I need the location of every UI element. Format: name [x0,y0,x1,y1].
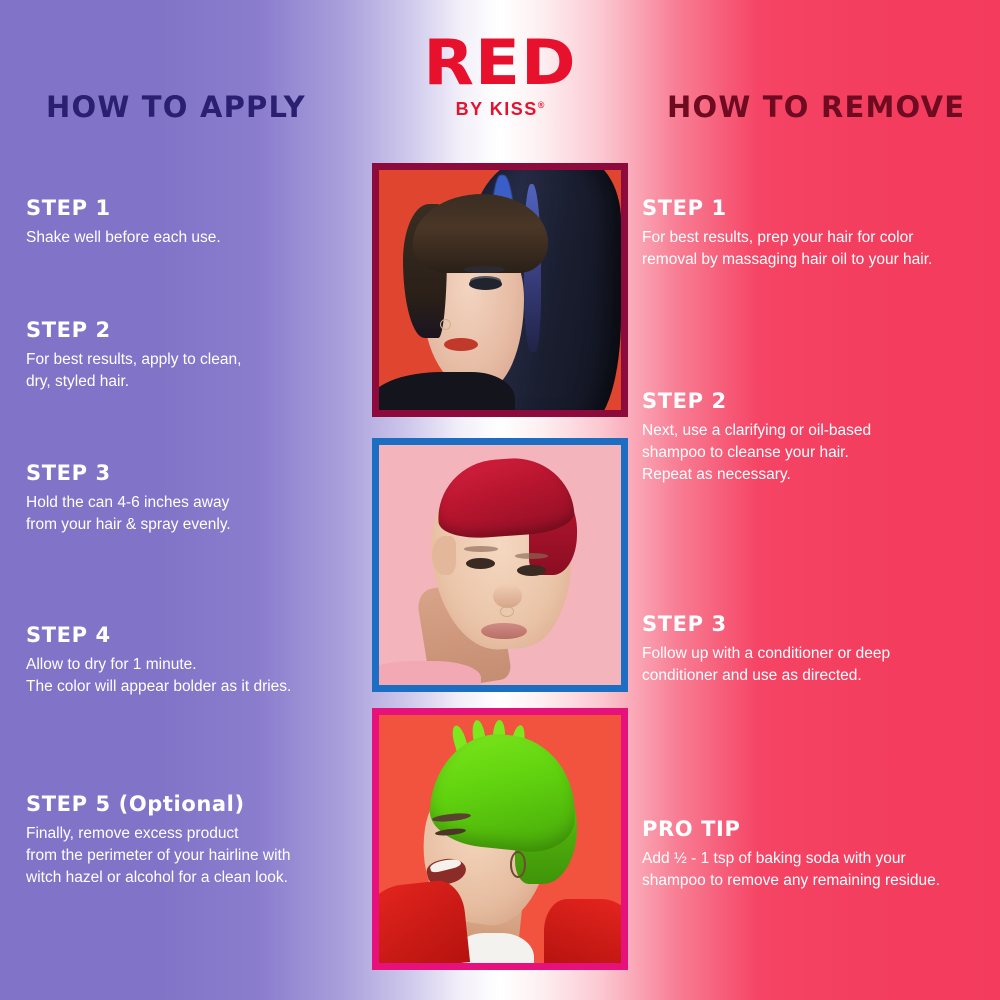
apply-step-3-body: Hold the can 4-6 inches away from your h… [26,492,231,536]
photo-blue-black-hair [372,163,628,417]
photo2-ear [432,536,456,574]
photo3-jacket-right [544,899,621,963]
apply-step-4-body: Allow to dry for 1 minute. The color wil… [26,654,291,698]
photo1-eye [469,278,503,290]
registered-trademark-icon: ® [538,100,545,110]
photo-red-buzzcut [372,438,628,692]
apply-step-1-body: Shake well before each use. [26,227,221,249]
apply-step-4: STEP 4 Allow to dry for 1 minute. The co… [26,623,291,698]
remove-pro-tip: PRO TIP Add ½ - 1 tsp of baking soda wit… [642,817,940,892]
remove-pro-tip-body: Add ½ - 1 tsp of baking soda with your s… [642,848,940,892]
remove-step-2-title: STEP 2 [642,389,871,413]
photo2-eyebrow-left [464,546,498,552]
remove-step-1-body: For best results, prep your hair for col… [642,227,932,271]
photo2-lips [481,623,527,640]
remove-step-1-title: STEP 1 [642,196,932,220]
remove-step-2: STEP 2 Next, use a clarifying or oil-bas… [642,389,871,486]
apply-step-2-title: STEP 2 [26,318,241,342]
apply-step-5-body: Finally, remove excess product from the … [26,823,290,889]
remove-pro-tip-title: PRO TIP [642,817,940,841]
logo-wordmark: RED [0,34,1000,93]
remove-step-2-body: Next, use a clarifying or oil-based sham… [642,420,871,486]
photo-blue-black-hair-image [379,170,621,410]
logo-tagline: BY KISS® [456,99,545,120]
apply-step-1: STEP 1 Shake well before each use. [26,196,221,249]
remove-step-3-title: STEP 3 [642,612,890,636]
logo-tagline-text: BY KISS [456,99,538,119]
apply-step-2-body: For best results, apply to clean, dry, s… [26,349,241,393]
apply-step-3: STEP 3 Hold the can 4-6 inches away from… [26,461,231,536]
photo2-nose [493,584,522,608]
photo3-jacket-left [379,878,470,963]
photo1-shoulder [379,372,515,410]
photo-red-buzzcut-image [379,445,621,685]
apply-step-5: STEP 5 (Optional) Finally, remove excess… [26,792,290,889]
remove-step-1: STEP 1 For best results, prep your hair … [642,196,932,271]
photo2-shirt [379,661,481,685]
photo-green-hair-image [379,715,621,963]
photo2-eye-left [466,558,495,569]
apply-step-3-title: STEP 3 [26,461,231,485]
apply-step-4-title: STEP 4 [26,623,291,647]
photo2-eyebrow-right [515,553,549,559]
apply-step-2: STEP 2 For best results, apply to clean,… [26,318,241,393]
photo-green-hair [372,708,628,970]
apply-step-5-title: STEP 5 (Optional) [26,792,290,816]
photo2-eye-right [517,565,546,576]
brand-logo: RED BY KISS® [0,34,1000,120]
remove-step-3: STEP 3 Follow up with a conditioner or d… [642,612,890,687]
apply-step-1-title: STEP 1 [26,196,221,220]
remove-step-3-body: Follow up with a conditioner or deep con… [642,643,890,687]
infographic-poster: RED BY KISS® HOW TO APPLY HOW TO REMOVE … [0,0,1000,1000]
photo3-earring [510,851,526,877]
